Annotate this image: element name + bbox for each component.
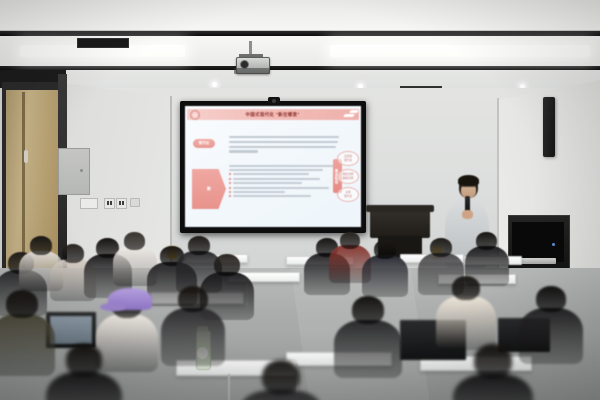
wall-corner-right [497, 98, 499, 268]
audience-member-torso [362, 255, 408, 297]
power-outlet[interactable] [116, 198, 127, 209]
audience-member-torso [161, 308, 225, 366]
audience-member-head [62, 244, 84, 263]
power-outlet[interactable] [104, 198, 115, 209]
slide-bullet-item [229, 187, 341, 189]
projector-mount [249, 41, 252, 55]
slide-bubble: 全体 现代化 [337, 187, 359, 202]
audience-member-head [352, 296, 384, 324]
slide-bullet-item [229, 195, 341, 197]
audience-member-head [374, 240, 396, 259]
slide-chevron-text: 新 [207, 186, 211, 192]
audience-member-torso [96, 314, 158, 372]
av-status-led-icon [552, 243, 555, 246]
slide-left-tag: 现代化 [193, 139, 215, 148]
cap-brim [100, 303, 126, 311]
audience-member-head [474, 344, 512, 378]
network-port[interactable] [130, 198, 140, 207]
audience-member-head [214, 254, 240, 276]
wall-corner-left [170, 96, 172, 271]
electrical-panel [58, 148, 90, 195]
classroom-scene: 中国式现代化 "新在哪里" 现代化 新 [0, 0, 600, 400]
podium [370, 208, 430, 238]
camera-lens-icon [272, 99, 276, 103]
desk-leg [228, 374, 230, 400]
audience-member-head [262, 360, 300, 394]
door-handle[interactable] [24, 150, 28, 163]
projector-shadow [234, 68, 270, 74]
slide-body: 现代化 新 基本特征 [185, 121, 361, 227]
slide-bubble: 物质文明 精神文明 [337, 169, 359, 184]
ribbon-icon [342, 110, 358, 118]
slide-bubble-text: 全体 现代化 [344, 191, 352, 197]
audience-member-head [536, 286, 566, 312]
projected-slide: 中国式现代化 "新在哪里" 现代化 新 [185, 106, 361, 227]
light-switch-bank[interactable] [80, 198, 98, 209]
slide-title-text: 中国式现代化 "新在哪里" [246, 111, 300, 117]
audience-member-torso [334, 320, 402, 378]
ceiling-light-right [330, 45, 590, 57]
ceiling [0, 0, 600, 95]
audience-member-head [124, 232, 145, 250]
laptop-screen [50, 316, 92, 344]
audience-member-torso [0, 314, 55, 376]
slide-bullet-item [229, 178, 341, 180]
institution-seal-icon [190, 110, 200, 120]
slide-bullet-list [229, 165, 341, 200]
audience-member-head [178, 286, 208, 312]
panel-latch-icon [80, 169, 83, 172]
audience-member-torso [519, 308, 583, 364]
audience-member-head [340, 232, 360, 249]
audience-member-head [476, 232, 497, 250]
audience-member-head [188, 236, 210, 255]
presenter-hair [458, 175, 479, 186]
slide-bullet-item [229, 182, 341, 184]
audience-member-head [452, 276, 480, 300]
slide-bubble-text: 物质文明 精神文明 [343, 173, 354, 179]
air-vent-icon [77, 38, 129, 48]
av-rack-panel [520, 258, 556, 264]
slide-left-tag-text: 现代化 [199, 141, 210, 146]
downlight-icon [212, 82, 217, 87]
slide-bullet-item [229, 191, 341, 193]
ceiling-front-panel [0, 0, 600, 31]
audience-member-head [66, 344, 102, 376]
slide-bubble-text: 高质量 现代化 [344, 155, 352, 161]
audience-member-head [6, 290, 38, 318]
audience-member-head [430, 238, 452, 257]
podium-top [366, 205, 434, 212]
wall-speaker [543, 97, 555, 157]
glasses-icon [461, 186, 476, 190]
wall-controls [80, 198, 142, 208]
audience-member-torso [436, 296, 496, 350]
slide-title-bar: 中国式现代化 "新在哪里" [187, 109, 359, 120]
audience-member-head [30, 236, 52, 255]
slide-bullet-item [229, 173, 341, 175]
presenter-hand [462, 210, 473, 219]
slide-bubble: 高质量 现代化 [337, 151, 359, 166]
slide-chevron-shape: 新 [192, 169, 226, 209]
slide-paragraph [229, 136, 339, 155]
